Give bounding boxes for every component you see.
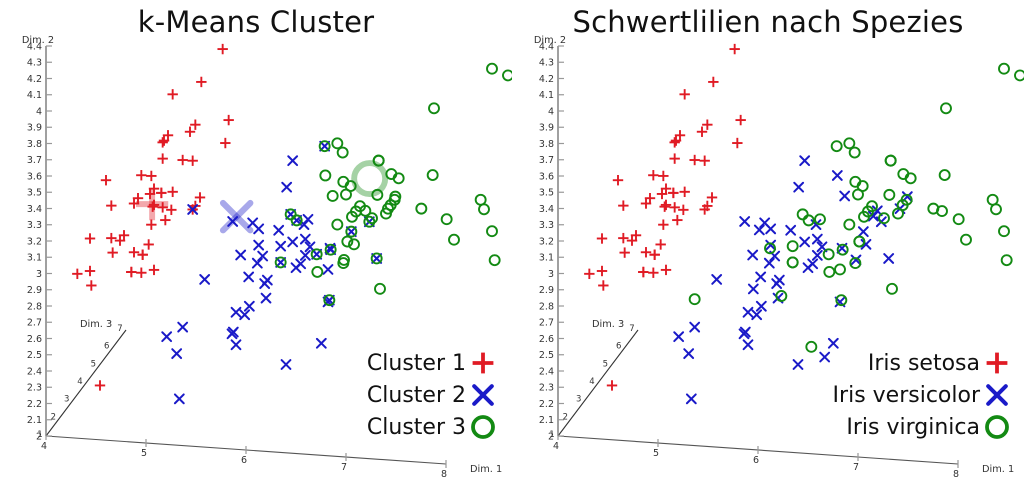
svg-text:7: 7 (117, 324, 122, 334)
svg-text:Dim. 3: Dim. 3 (80, 319, 112, 330)
svg-text:2.3: 2.3 (539, 383, 554, 394)
svg-text:6: 6 (104, 342, 109, 352)
svg-text:4.2: 4.2 (27, 74, 42, 85)
svg-text:3.8: 3.8 (539, 139, 554, 150)
panel-kmeans-cluster: k-Means Cluster 22.12.22.32.42.52.62.72.… (0, 0, 512, 479)
svg-text:2.7: 2.7 (27, 318, 42, 329)
svg-text:5: 5 (653, 448, 659, 459)
legend-item-label: Cluster 1 (367, 351, 466, 376)
svg-text:2.2: 2.2 (27, 399, 42, 410)
svg-text:3.9: 3.9 (539, 123, 554, 134)
legend-left: Cluster 1Cluster 2Cluster 3 (367, 347, 500, 443)
svg-text:4.2: 4.2 (539, 74, 554, 85)
svg-text:3: 3 (64, 395, 69, 405)
svg-text:5: 5 (91, 359, 96, 369)
svg-text:2.2: 2.2 (539, 399, 554, 410)
svg-text:3.3: 3.3 (539, 220, 554, 231)
legend-item-iris-setosa[interactable]: Iris setosa (833, 347, 1014, 379)
svg-text:4.3: 4.3 (27, 58, 42, 69)
legend-item-cluster-1[interactable]: Cluster 1 (367, 347, 500, 379)
svg-text:2.6: 2.6 (539, 334, 554, 345)
svg-text:Dim. 3: Dim. 3 (592, 319, 624, 330)
svg-text:4.1: 4.1 (539, 90, 554, 101)
svg-text:4.3: 4.3 (539, 58, 554, 69)
svg-text:3.4: 3.4 (27, 204, 42, 215)
svg-text:4: 4 (41, 441, 47, 452)
svg-text:8: 8 (441, 469, 447, 479)
svg-text:2.4: 2.4 (539, 366, 554, 377)
legend-item-label: Cluster 2 (367, 383, 466, 408)
svg-text:3.1: 3.1 (27, 253, 42, 264)
svg-text:2.6: 2.6 (27, 334, 42, 345)
svg-text:3.6: 3.6 (539, 171, 554, 182)
plus-icon (980, 347, 1014, 379)
circle-icon (980, 411, 1014, 443)
legend-item-label: Iris setosa (868, 351, 980, 376)
svg-text:2: 2 (563, 412, 568, 422)
svg-text:2.8: 2.8 (539, 301, 554, 312)
svg-text:3.3: 3.3 (27, 220, 42, 231)
legend-item-cluster-2[interactable]: Cluster 2 (367, 379, 500, 411)
svg-text:2.7: 2.7 (539, 318, 554, 329)
svg-text:4.1: 4.1 (27, 90, 42, 101)
legend-item-label: Iris versicolor (833, 383, 980, 408)
svg-text:Dim. 1: Dim. 1 (982, 464, 1014, 475)
svg-text:5: 5 (141, 448, 147, 459)
svg-text:2.8: 2.8 (27, 301, 42, 312)
svg-text:2.5: 2.5 (27, 350, 42, 361)
svg-text:6: 6 (753, 455, 759, 466)
series-iris-virginica (690, 64, 1024, 352)
svg-text:5: 5 (603, 359, 608, 369)
series-iris-setosa (584, 44, 746, 391)
svg-text:4: 4 (77, 377, 82, 387)
svg-text:2.3: 2.3 (27, 383, 42, 394)
svg-text:8: 8 (953, 469, 959, 479)
legend-item-iris-versicolor[interactable]: Iris versicolor (833, 379, 1014, 411)
svg-text:4: 4 (553, 441, 559, 452)
panel-species: Schwertlilien nach Spezies 22.12.22.32.4… (512, 0, 1024, 479)
svg-text:3.7: 3.7 (27, 155, 42, 166)
cross-icon (980, 379, 1014, 411)
z-axis-line (46, 330, 126, 436)
svg-text:3: 3 (548, 269, 554, 280)
svg-text:2.5: 2.5 (539, 350, 554, 361)
svg-text:2.1: 2.1 (27, 415, 42, 426)
svg-text:3.2: 3.2 (539, 236, 554, 247)
svg-text:3.2: 3.2 (27, 236, 42, 247)
svg-text:3.5: 3.5 (539, 188, 554, 199)
svg-text:Dim. 1: Dim. 1 (470, 464, 502, 475)
legend-item-cluster-3[interactable]: Cluster 3 (367, 411, 500, 443)
svg-text:2.1: 2.1 (539, 415, 554, 426)
z-axis-line (558, 330, 638, 436)
svg-text:3.8: 3.8 (27, 139, 42, 150)
svg-text:2.9: 2.9 (27, 285, 42, 296)
svg-text:7: 7 (341, 462, 347, 473)
svg-text:7: 7 (629, 324, 634, 334)
legend-right: Iris setosaIris versicolorIris virginica (833, 347, 1014, 443)
svg-text:3.6: 3.6 (27, 171, 42, 182)
svg-text:3.4: 3.4 (539, 204, 554, 215)
legend-item-iris-virginica[interactable]: Iris virginica (833, 411, 1014, 443)
svg-text:3: 3 (576, 395, 581, 405)
cross-icon (466, 379, 500, 411)
svg-text:6: 6 (241, 455, 247, 466)
centroid-marker (354, 163, 385, 194)
legend-item-label: Iris virginica (846, 415, 980, 440)
iris-3d-scatter-figure: k-Means Cluster 22.12.22.32.42.52.62.72.… (0, 0, 1024, 479)
plus-icon (466, 347, 500, 379)
svg-text:7: 7 (853, 462, 859, 473)
svg-text:1: 1 (37, 430, 42, 440)
svg-text:4: 4 (589, 377, 594, 387)
svg-text:3.5: 3.5 (27, 188, 42, 199)
svg-text:Dim. 2: Dim. 2 (534, 35, 566, 46)
svg-text:3.7: 3.7 (539, 155, 554, 166)
svg-text:3.9: 3.9 (27, 123, 42, 134)
svg-text:Dim. 2: Dim. 2 (22, 35, 54, 46)
svg-text:2: 2 (51, 412, 56, 422)
svg-text:2.4: 2.4 (27, 366, 42, 377)
series-cluster-3 (276, 64, 512, 305)
circle-icon (466, 411, 500, 443)
svg-text:3: 3 (36, 269, 42, 280)
svg-text:4: 4 (36, 106, 42, 117)
legend-item-label: Cluster 3 (367, 415, 466, 440)
svg-text:3.1: 3.1 (539, 253, 554, 264)
svg-text:1: 1 (549, 430, 554, 440)
svg-text:4: 4 (548, 106, 554, 117)
svg-text:2.9: 2.9 (539, 285, 554, 296)
svg-text:6: 6 (616, 342, 621, 352)
